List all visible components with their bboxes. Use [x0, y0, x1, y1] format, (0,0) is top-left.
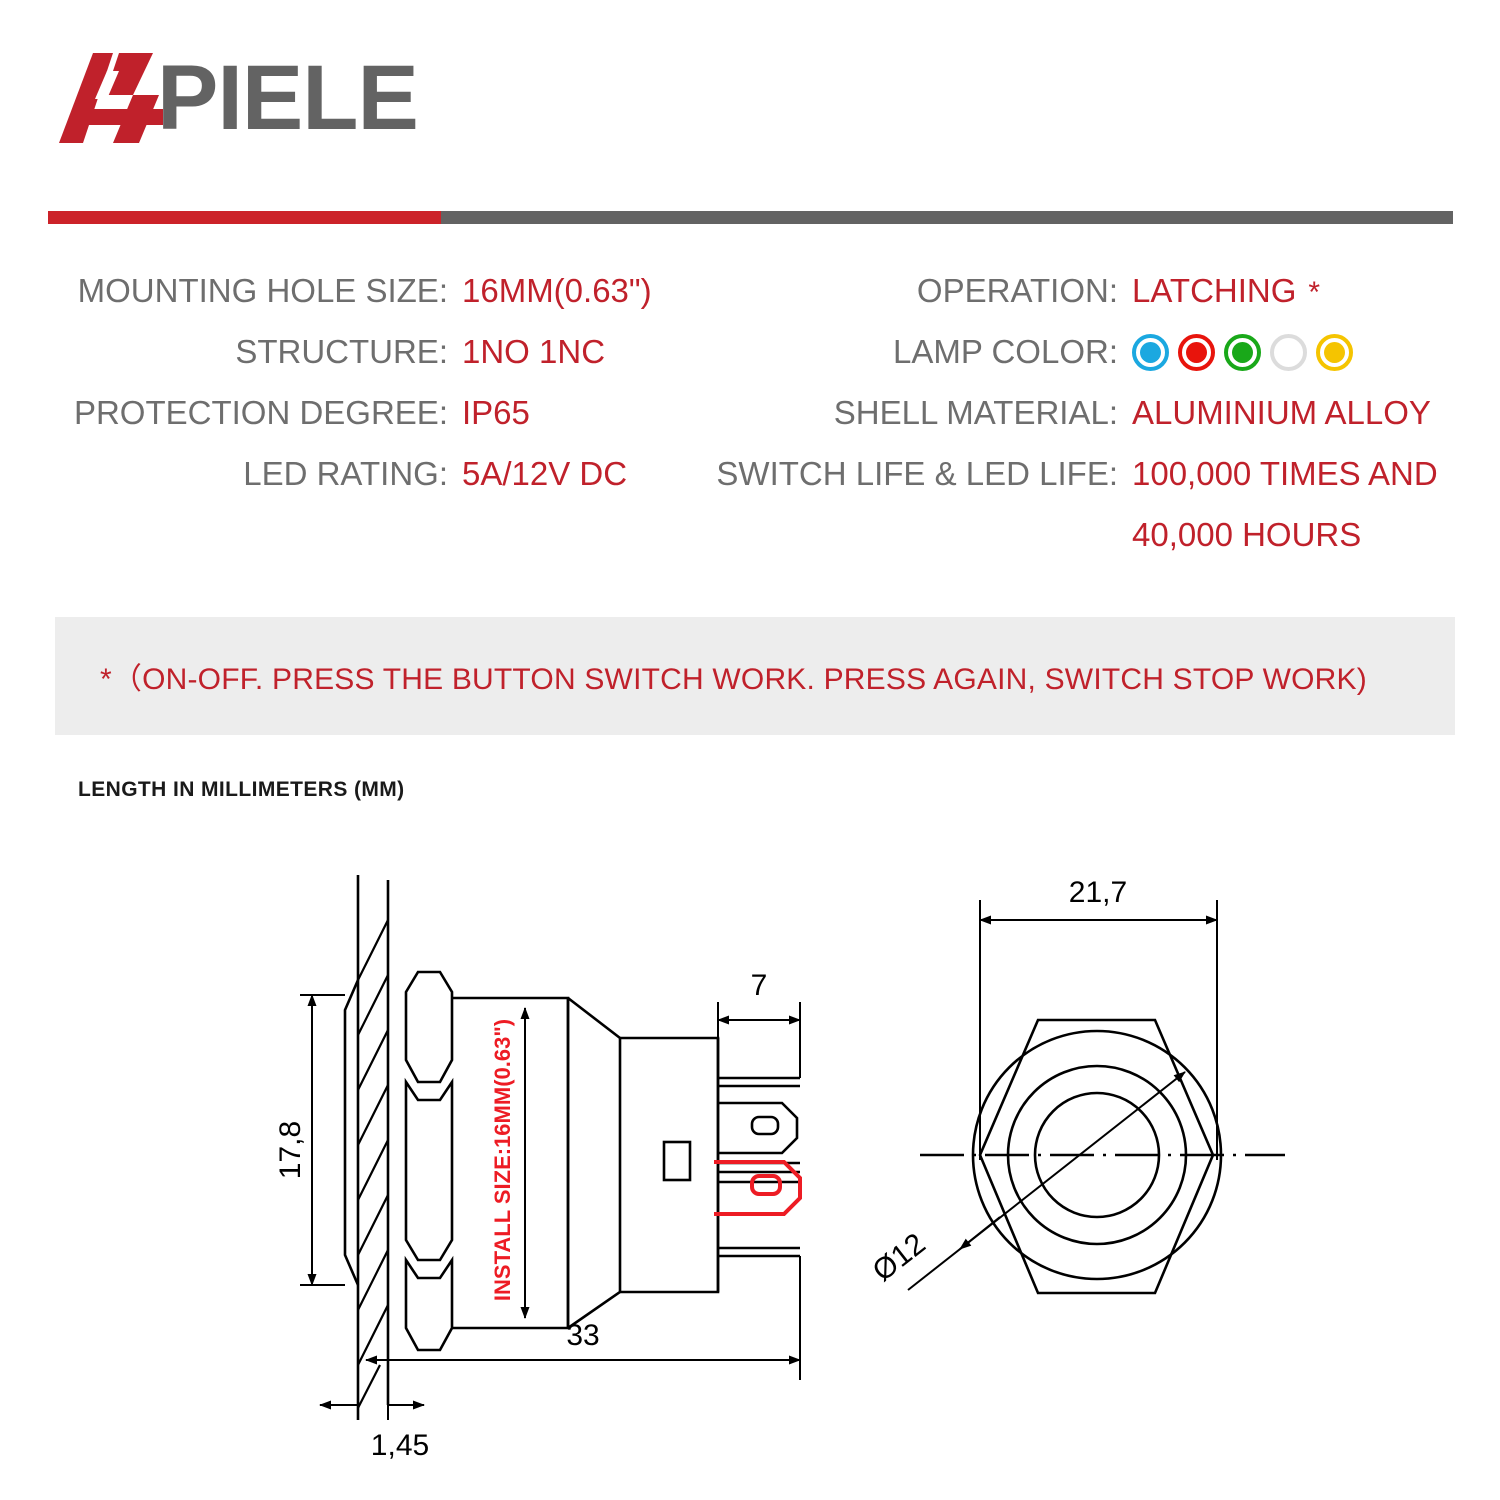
dimension-label-across-flats: 21,7	[1069, 876, 1127, 909]
spec-column-left: MOUNTING HOLE SIZE: 16MM(0.63") STRUCTUR…	[48, 272, 688, 577]
spec-value: LATCHING	[1118, 272, 1296, 310]
spec-value: 1NO 1NC	[448, 333, 605, 371]
specification-table: MOUNTING HOLE SIZE: 16MM(0.63") STRUCTUR…	[48, 272, 1458, 577]
spec-label: LAMP COLOR:	[688, 333, 1118, 371]
divider-red-segment	[48, 211, 441, 224]
spec-label: PROTECTION DEGREE:	[48, 394, 448, 432]
spec-label: MOUNTING HOLE SIZE:	[48, 272, 448, 310]
lamp-swatch-yellow	[1316, 334, 1353, 371]
spec-row-protection-degree: PROTECTION DEGREE: IP65	[48, 394, 688, 455]
spec-value: 5A/12V DC	[448, 455, 627, 493]
divider-gray-segment	[441, 211, 1453, 224]
spec-row-mounting-hole-size: MOUNTING HOLE SIZE: 16MM(0.63")	[48, 272, 688, 333]
brand-logo: PIELE	[55, 48, 418, 148]
spec-label: OPERATION:	[688, 272, 1118, 310]
spec-row-operation: OPERATION: LATCHING *	[688, 272, 1458, 333]
spec-row-structure: STRUCTURE: 1NO 1NC	[48, 333, 688, 394]
spec-column-right: OPERATION: LATCHING * LAMP COLOR: SHELL …	[688, 272, 1458, 577]
spec-value: IP65	[448, 394, 530, 432]
install-size-note: INSTALL SIZE:16MM(0.63")	[490, 1019, 515, 1301]
header-divider-bar	[48, 211, 1453, 224]
dimension-label-terminal-depth: 7	[751, 969, 768, 1002]
spec-value-continued: 40,000 HOURS	[1118, 516, 1361, 554]
spec-label: STRUCTURE:	[48, 333, 448, 371]
lamp-swatch-blue	[1132, 334, 1169, 371]
operation-footnote-banner: *（ON-OFF. PRESS THE BUTTON SWITCH WORK. …	[55, 617, 1455, 735]
dimension-label-total-length: 33	[566, 1319, 599, 1352]
spec-value: ALUMINIUM ALLOY	[1118, 394, 1431, 432]
lamp-swatch-red	[1178, 334, 1215, 371]
lamp-color-swatches	[1118, 334, 1353, 371]
spec-value: 100,000 TIMES AND	[1118, 455, 1438, 493]
spec-row-switch-life-cont: 40,000 HOURS	[688, 516, 1458, 577]
spec-row-shell-material: SHELL MATERIAL: ALUMINIUM ALLOY	[688, 394, 1458, 455]
apiele-a-mark-icon	[55, 49, 173, 147]
spec-label: SHELL MATERIAL:	[688, 394, 1118, 432]
spec-row-led-rating: LED RATING: 5A/12V DC	[48, 455, 688, 516]
lamp-swatch-white	[1270, 334, 1307, 371]
dimension-label-height: 17,8	[274, 1121, 307, 1179]
spec-row-lamp-color: LAMP COLOR:	[688, 333, 1458, 394]
spec-label: SWITCH LIFE & LED LIFE:	[688, 455, 1118, 493]
operation-footnote-text: *（ON-OFF. PRESS THE BUTTON SWITCH WORK. …	[55, 654, 1367, 698]
spec-label: LED RATING:	[48, 455, 448, 493]
length-units-note: LENGTH IN MILLIMETERS (MM)	[78, 778, 405, 802]
brand-wordmark: PIELE	[157, 49, 418, 147]
technical-drawing: 17,8 1,45 33 7 21,7 Ø12 INSTALL SIZE:16M…	[0, 860, 1500, 1460]
dimension-label-panel-thickness: 1,45	[371, 1429, 429, 1460]
lamp-swatch-green	[1224, 334, 1261, 371]
footnote-asterisk: *	[1296, 276, 1320, 310]
spec-row-switch-life: SWITCH LIFE & LED LIFE: 100,000 TIMES AN…	[688, 455, 1458, 516]
spec-value: 16MM(0.63")	[448, 272, 652, 310]
